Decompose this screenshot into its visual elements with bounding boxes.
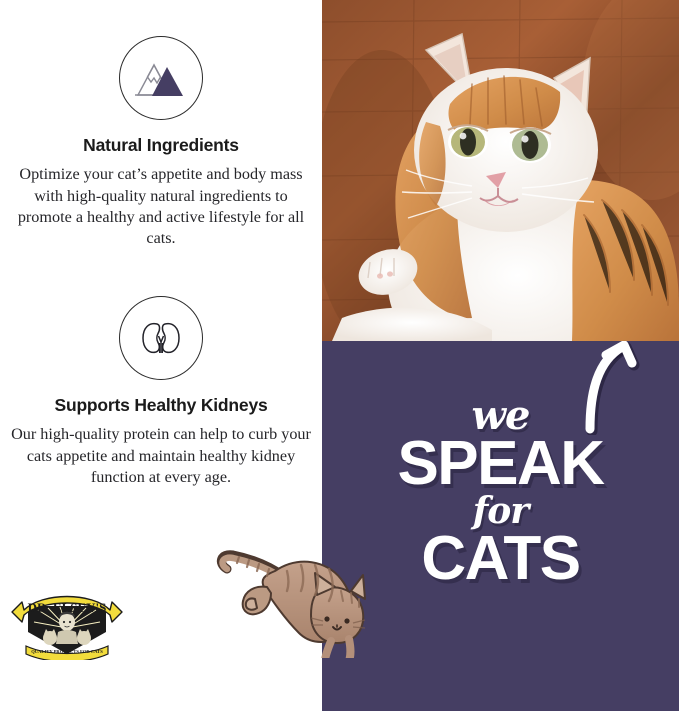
feature-natural-ingredients: Natural Ingredients Optimize your cat’s … xyxy=(0,36,322,250)
feature-title: Supports Healthy Kidneys xyxy=(0,396,322,415)
slogan-line-cats: CATS xyxy=(322,530,679,587)
mountains-icon xyxy=(119,36,203,120)
cat-photo xyxy=(322,0,679,341)
feature-supports-healthy-kidneys: Supports Healthy Kidneys Our high-qualit… xyxy=(0,296,322,488)
left-content-column: Natural Ingredients Optimize your cat’s … xyxy=(0,0,322,711)
feature-title: Natural Ingredients xyxy=(0,136,322,155)
slogan-line-for: for xyxy=(322,494,679,528)
kidneys-icon xyxy=(119,296,203,380)
slogan-block: we SPEAK for CATS xyxy=(322,397,679,587)
product-infographic: Natural Ingredients Optimize your cat’s … xyxy=(0,0,679,711)
feature-body: Our high-quality protein can help to cur… xyxy=(0,424,322,488)
slogan-panel: we SPEAK for CATS xyxy=(322,341,679,711)
logo-tagline: QUALITY PRODUCTS FOR CATS xyxy=(31,649,103,654)
feature-body: Optimize your cat’s appetite and body ma… xyxy=(0,164,322,250)
logo-wordmark: DR. ELSEY'S xyxy=(28,600,107,615)
slogan-line-speak: SPEAK xyxy=(322,435,679,492)
brand-logo: DR. ELSEY'S QUALITY PRODUCTS FOR CATS xyxy=(8,588,126,660)
